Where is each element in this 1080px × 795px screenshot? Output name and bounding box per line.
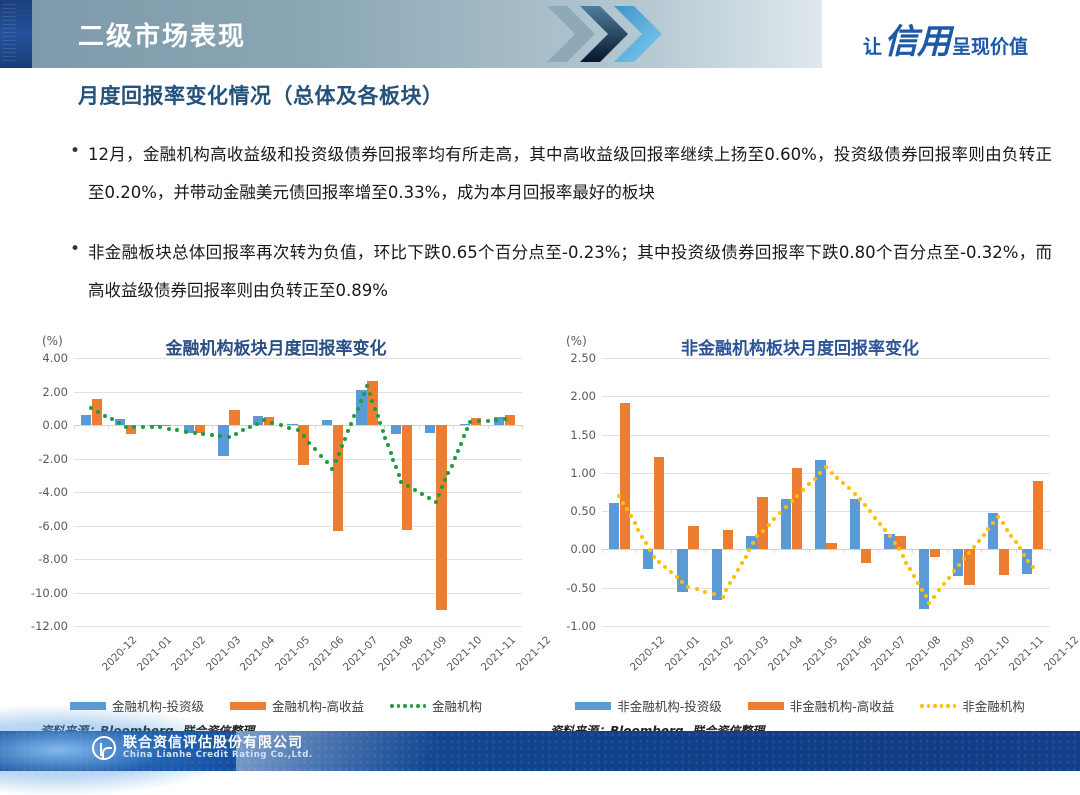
chart-line-point — [124, 425, 128, 429]
chart-gridline — [602, 358, 1050, 359]
chart-x-tick-label: 2021-11 — [479, 634, 519, 674]
chart-bar — [218, 425, 228, 456]
chart-line-point — [255, 422, 259, 426]
chart-bar — [298, 425, 308, 465]
chart-legend-item[interactable]: 金融机构 — [390, 696, 482, 715]
chart-axis-tick — [878, 549, 879, 553]
chart-line-point — [437, 493, 441, 497]
chart-line-point — [210, 433, 214, 437]
chart-bar — [723, 530, 733, 550]
chart-gridline — [74, 358, 522, 359]
chart-axis-tick — [981, 549, 982, 553]
chart-axis-tick — [705, 549, 706, 553]
chart-line-point — [234, 432, 238, 436]
chart-title: 非金融机构板块月度回报率变化 — [540, 334, 1060, 359]
chart-bar — [460, 424, 470, 425]
chart-line-point — [307, 441, 311, 445]
chart-axis-tick — [212, 425, 213, 429]
chart-line-point — [724, 588, 728, 592]
chart-y-tick-label: -1.00 — [566, 619, 596, 633]
chart-line-point — [908, 567, 912, 571]
chart-bar — [229, 410, 239, 425]
chart-line-point — [397, 473, 401, 477]
chart-y-tick-label: 2.00 — [42, 385, 68, 399]
chart-y-tick-label: -12.00 — [31, 619, 68, 633]
chart-line-point — [675, 575, 679, 579]
legend-label: 金融机构 — [432, 696, 482, 715]
chart-line-point — [486, 419, 490, 423]
chart-line-point — [96, 410, 100, 414]
chart-gridline — [74, 526, 522, 527]
bullet-marker-icon: • — [62, 136, 88, 212]
chart-line-point — [621, 501, 625, 505]
brand-logo: 让 信用 呈现价值 — [863, 14, 1028, 63]
legend-label: 非金融机构-高收益 — [790, 696, 895, 715]
chart-x-tick-label: 2021-02 — [697, 634, 737, 674]
chart-line-point — [227, 435, 231, 439]
chart-x-tick-label: 2021-05 — [800, 634, 840, 674]
chart-line-point — [784, 505, 788, 509]
bullet-item: • 12月，金融机构高收益级和投资级债券回报率均有所走高，其中高收益级回报率继续… — [62, 136, 1052, 212]
chart-line-point — [937, 588, 941, 592]
chart-line-point — [450, 464, 454, 468]
chart-line-point — [325, 460, 329, 464]
chart-line-point — [904, 561, 908, 565]
chart-line-point — [386, 443, 390, 447]
chart-line-point — [813, 477, 817, 481]
chart-line-point — [1009, 534, 1013, 538]
chart-bar — [792, 468, 802, 549]
chart-line-point — [767, 523, 771, 527]
chart-x-tick-label: 2021-02 — [169, 634, 209, 674]
chart-line-point — [110, 417, 114, 421]
chevron-icon-3 — [612, 4, 664, 64]
chart-line-point — [337, 452, 341, 456]
chart-line-point — [932, 595, 936, 599]
chart-line-point — [1014, 540, 1018, 544]
brand-logo-prefix: 让 — [863, 32, 882, 59]
chart-y-tick-label: -10.00 — [31, 586, 68, 600]
legend-label: 金融机构-高收益 — [272, 696, 364, 715]
chart-bar — [81, 415, 91, 425]
chart-bar — [620, 403, 630, 549]
chart-y-tick-label: 0.00 — [570, 542, 596, 556]
chart-line-point — [340, 444, 344, 448]
chart-line-point — [977, 539, 981, 543]
chart-line-point — [841, 481, 845, 485]
chart-line-point — [967, 551, 971, 555]
chart-line-point — [744, 555, 748, 559]
header-left-accent — [0, 0, 32, 68]
chart-line-point — [1005, 528, 1009, 532]
chart-y-tick-label: -0.50 — [566, 581, 596, 595]
chart-line-point — [790, 499, 794, 503]
chart-line-point — [420, 492, 424, 496]
chart-x-tick-label: 2020-12 — [100, 634, 140, 674]
chart-axis-tick — [315, 425, 316, 429]
chart-line-point — [346, 429, 350, 433]
chart-line-point — [893, 541, 897, 545]
chart-line-point — [376, 414, 380, 418]
bullet-list: • 12月，金融机构高收益级和投资级债券回报率均有所走高，其中高收益级回报率继续… — [62, 136, 1052, 332]
chart-gridline — [74, 559, 522, 560]
chart-line-point — [920, 588, 924, 592]
chart-bar — [367, 381, 377, 425]
chart-bar — [964, 549, 974, 584]
chart-x-tick-label: 2021-01 — [135, 634, 175, 674]
bullet-text: 非金融板块总体回报率再次转为负值，环比下跌0.65个百分点至-0.23%；其中投… — [88, 234, 1052, 310]
chart-line-point — [453, 456, 457, 460]
chart-line-point — [373, 407, 377, 411]
chart-line-point — [640, 535, 644, 539]
chart-line-point — [629, 514, 633, 518]
chart-gridline — [602, 396, 1050, 397]
chart-x-tick-label: 2021-04 — [238, 634, 278, 674]
chart-gridline — [74, 392, 522, 393]
chart-line-point — [868, 509, 872, 513]
chart-line-point — [657, 560, 661, 564]
chart-line-point — [468, 420, 472, 424]
chart-y-tick-label: 2.00 — [570, 389, 596, 403]
chart-axis-tick — [1050, 549, 1051, 553]
chart-y-tick-label: 1.50 — [570, 428, 596, 442]
chart-line-point — [835, 476, 839, 480]
chart-line-point — [924, 594, 928, 598]
chart-line-point — [394, 465, 398, 469]
chart-y-tick-label: 2.50 — [570, 351, 596, 365]
footer-company-logo: 联合资信评估股份有限公司 China Lianhe Credit Rating … — [92, 736, 313, 760]
chart-line-point — [241, 428, 245, 432]
chart-line-point — [356, 407, 360, 411]
chart-line-point — [434, 500, 438, 504]
legend-label: 非金融机构-投资级 — [617, 696, 722, 715]
chart-line-point — [368, 392, 372, 396]
chart-gridline — [602, 588, 1050, 589]
chart-legend-item[interactable]: 金融机构-高收益 — [230, 696, 364, 715]
chart-bar — [930, 549, 940, 557]
chart-line-point — [669, 570, 673, 574]
chart-bar — [861, 549, 871, 563]
chart-axis-tick — [671, 549, 672, 553]
legend-color-swatch — [748, 702, 784, 710]
chart-x-tick-label: 2021-09 — [938, 634, 978, 674]
chart-bar — [322, 420, 332, 425]
chart-line-point — [996, 515, 1000, 519]
chart-bar — [999, 549, 1009, 575]
chart-axis-tick — [488, 425, 489, 429]
chart-x-tick-label: 2021-12 — [1042, 634, 1080, 674]
chart-line-point — [947, 576, 951, 580]
chart-line-point — [1031, 565, 1035, 569]
chart-line-point — [334, 459, 338, 463]
chart-line-point — [167, 427, 171, 431]
chart-line-point — [465, 427, 469, 431]
chart-line-point — [853, 492, 857, 496]
chart-line-point — [287, 426, 291, 430]
chart-axis-tick — [740, 549, 741, 553]
chart-y-tick-label: 1.00 — [570, 466, 596, 480]
chart-bar — [402, 425, 412, 530]
chart-axis-tick — [912, 549, 913, 553]
brand-logo-suffix: 呈现价值 — [952, 32, 1028, 59]
legend-color-swatch — [575, 702, 611, 710]
chart-gridline — [74, 626, 522, 627]
chart-legend-item[interactable]: 非金融机构 — [920, 696, 1025, 715]
chart-gridline — [602, 626, 1050, 627]
chart-line-point — [807, 482, 811, 486]
chart-line-point — [1001, 521, 1005, 525]
chart-line-point — [778, 511, 782, 515]
chart-line-point — [446, 471, 450, 475]
chart-y-tick-label: -4.00 — [38, 485, 68, 499]
chart-line-point — [343, 437, 347, 441]
chart-line-point — [296, 428, 300, 432]
chart-line-point — [863, 503, 867, 507]
chart-axis-tick — [602, 549, 603, 553]
footer-company-name-en: China Lianhe Credit Rating Co.,Ltd. — [123, 751, 313, 760]
chart-axis-tick — [636, 549, 637, 553]
chart-line-point — [462, 434, 466, 438]
chart-line-point — [942, 582, 946, 586]
chart-line-point — [795, 494, 799, 498]
chart-line-point — [721, 595, 725, 599]
legend-label: 非金融机构 — [962, 696, 1025, 715]
chart-line-point — [927, 601, 931, 605]
chart-bar — [688, 526, 698, 550]
chart-x-tick-label: 2021-01 — [663, 634, 703, 674]
chart-line-point — [313, 447, 317, 451]
chart-y-tick-label: -2.00 — [38, 452, 68, 466]
chart-line-point — [962, 557, 966, 561]
chart-legend-item[interactable]: 非金融机构-高收益 — [748, 696, 895, 715]
chart-line-point — [103, 414, 107, 418]
chart-line-point — [141, 425, 145, 429]
chart-line-point — [897, 547, 901, 551]
chart-line-point — [847, 486, 851, 490]
chart-non-financial-institutions: (%) 非金融机构板块月度回报率变化 2.502.001.501.000.500… — [540, 330, 1060, 740]
chart-x-tick-label: 2021-07 — [341, 634, 381, 674]
chart-y-tick-label: -8.00 — [38, 552, 68, 566]
chart-x-tick-label: 2021-04 — [766, 634, 806, 674]
chart-bar — [850, 499, 860, 550]
chart-x-tick-label: 2021-03 — [203, 634, 243, 674]
chart-line-point — [636, 528, 640, 532]
chart-y-tick-label: 0.50 — [570, 504, 596, 518]
chart-line-point — [883, 528, 887, 532]
page-header: 二级市场表现 让 信用 呈现价值 — [0, 0, 1080, 72]
chart-plot-area: 2.502.001.501.000.500.00-0.50-1.00 — [602, 358, 1050, 626]
chart-line-point — [391, 458, 395, 462]
chart-bar — [1033, 481, 1043, 549]
chart-bar — [160, 425, 170, 426]
chart-line-point — [747, 548, 751, 552]
chart-line-point — [728, 581, 732, 585]
chart-line-point — [381, 429, 385, 433]
chart-line-point — [248, 425, 252, 429]
chart-line-point — [663, 565, 667, 569]
chart-line-point — [901, 554, 905, 558]
chart-line-point — [184, 430, 188, 434]
chart-gridline — [602, 511, 1050, 512]
chart-line-point — [633, 521, 637, 525]
chart-x-tick-label: 2021-10 — [445, 634, 485, 674]
brand-logo-main: 信用 — [884, 14, 950, 63]
chart-line-point — [270, 421, 274, 425]
chart-x-axis-labels: 2020-122021-012021-022021-032021-042021-… — [602, 630, 1050, 692]
chart-x-tick-label: 2021-06 — [307, 634, 347, 674]
chart-line-point — [201, 432, 205, 436]
chart-gridline — [74, 492, 522, 493]
chart-line-point — [383, 436, 387, 440]
chart-title: 金融机构板块月度回报率变化 — [16, 334, 536, 359]
chart-line-point — [695, 587, 699, 591]
chart-bar — [333, 425, 343, 531]
chart-axis-tick — [384, 425, 385, 429]
chart-line-point — [279, 423, 283, 427]
bullet-marker-icon: • — [62, 234, 88, 310]
chart-line-point — [150, 425, 154, 429]
chart-line-point — [878, 522, 882, 526]
chart-bar — [391, 425, 401, 434]
chart-x-tick-label: 2021-06 — [835, 634, 875, 674]
chart-bar — [643, 549, 653, 569]
section-title: 月度回报率变化情况（总体及各板块） — [78, 80, 444, 110]
chart-line-point — [736, 568, 740, 572]
lianhe-mark-icon — [92, 736, 116, 760]
chart-line-point — [427, 496, 431, 500]
chart-plot-area: 4.002.000.00-2.00-4.00-6.00-8.00-10.00-1… — [74, 358, 522, 626]
chart-line-point — [972, 545, 976, 549]
chart-x-tick-label: 2020-12 — [628, 634, 668, 674]
chart-axis-tick — [419, 425, 420, 429]
bullet-text: 12月，金融机构高收益级和投资级债券回报率均有所走高，其中高收益级回报率继续上扬… — [88, 136, 1052, 212]
chart-financial-institutions: (%) 金融机构板块月度回报率变化 4.002.000.00-2.00-4.00… — [16, 330, 536, 740]
chart-axis-tick — [453, 425, 454, 429]
chart-x-tick-label: 2021-08 — [904, 634, 944, 674]
chart-line-point — [732, 575, 736, 579]
chart-line-point — [916, 581, 920, 585]
chart-x-tick-label: 2021-03 — [731, 634, 771, 674]
chart-axis-tick — [809, 549, 810, 553]
chart-gridline — [74, 593, 522, 594]
chart-legend: 非金融机构-投资级非金融机构-高收益非金融机构 — [540, 696, 1060, 715]
chart-line-point — [319, 454, 323, 458]
chart-x-tick-label: 2021-09 — [410, 634, 450, 674]
chart-line-point — [389, 451, 393, 455]
chart-x-axis-labels: 2020-122021-012021-022021-032021-042021-… — [74, 630, 522, 692]
chart-line-point — [644, 541, 648, 545]
chart-x-tick-label: 2021-07 — [869, 634, 909, 674]
chart-y-tick-label: -6.00 — [38, 519, 68, 533]
chart-line-point — [824, 465, 828, 469]
chart-gridline — [602, 549, 1050, 550]
chart-line-point — [740, 561, 744, 565]
chart-line-point — [193, 431, 197, 435]
chart-line-point — [772, 517, 776, 521]
chart-line-point — [175, 428, 179, 432]
chart-axis-tick — [522, 425, 523, 429]
chart-bar — [609, 503, 619, 549]
chart-axis-tick — [1016, 549, 1017, 553]
chart-gridline — [602, 435, 1050, 436]
chart-line-point — [456, 449, 460, 453]
chart-line-point — [652, 555, 656, 559]
chart-line-point — [957, 563, 961, 567]
chart-bar — [425, 425, 435, 433]
chart-y-tick-label: 0.00 — [42, 418, 68, 432]
page-title: 二级市场表现 — [78, 16, 246, 53]
chart-y-tick-label: 4.00 — [42, 351, 68, 365]
chart-axis-tick — [947, 549, 948, 553]
chart-line-point — [443, 478, 447, 482]
chart-line-point — [982, 533, 986, 537]
chart-line-point — [761, 529, 765, 533]
chart-x-tick-label: 2021-10 — [973, 634, 1013, 674]
page-footer: 联合资信评估股份有限公司 China Lianhe Credit Rating … — [0, 731, 1080, 771]
chart-bar — [436, 425, 446, 610]
chart-gridline — [602, 473, 1050, 474]
chart-axis-tick — [843, 549, 844, 553]
chart-legend-item[interactable]: 非金融机构-投资级 — [575, 696, 722, 715]
chart-line-point — [117, 421, 121, 425]
chart-line-point — [262, 418, 266, 422]
legend-dotted-swatch — [390, 703, 426, 708]
chart-line-point — [912, 574, 916, 578]
chart-line-point — [158, 425, 162, 429]
chart-x-tick-label: 2021-05 — [272, 634, 312, 674]
footer-company-name-cn: 联合资信评估股份有限公司 — [123, 736, 313, 751]
chart-line-point — [477, 419, 481, 423]
chart-line-point — [873, 516, 877, 520]
bullet-item: • 非金融板块总体回报率再次转为负值，环比下跌0.65个百分点至-0.23%；其… — [62, 234, 1052, 310]
chart-axis-tick — [774, 549, 775, 553]
chart-line-point — [1022, 553, 1026, 557]
chart-axis-tick — [108, 425, 109, 429]
chart-line-point — [459, 442, 463, 446]
chart-line-point — [830, 471, 834, 475]
chart-line-point — [362, 392, 366, 396]
chart-axis-tick — [74, 425, 75, 429]
chart-line-point — [858, 497, 862, 501]
legend-dotted-swatch — [920, 703, 956, 708]
chart-x-tick-label: 2021-08 — [376, 634, 416, 674]
chart-line-point — [703, 590, 707, 594]
chart-x-tick-label: 2021-11 — [1007, 634, 1047, 674]
chart-bar — [654, 457, 664, 550]
chart-line-point — [801, 488, 805, 492]
chart-bar — [826, 543, 836, 550]
